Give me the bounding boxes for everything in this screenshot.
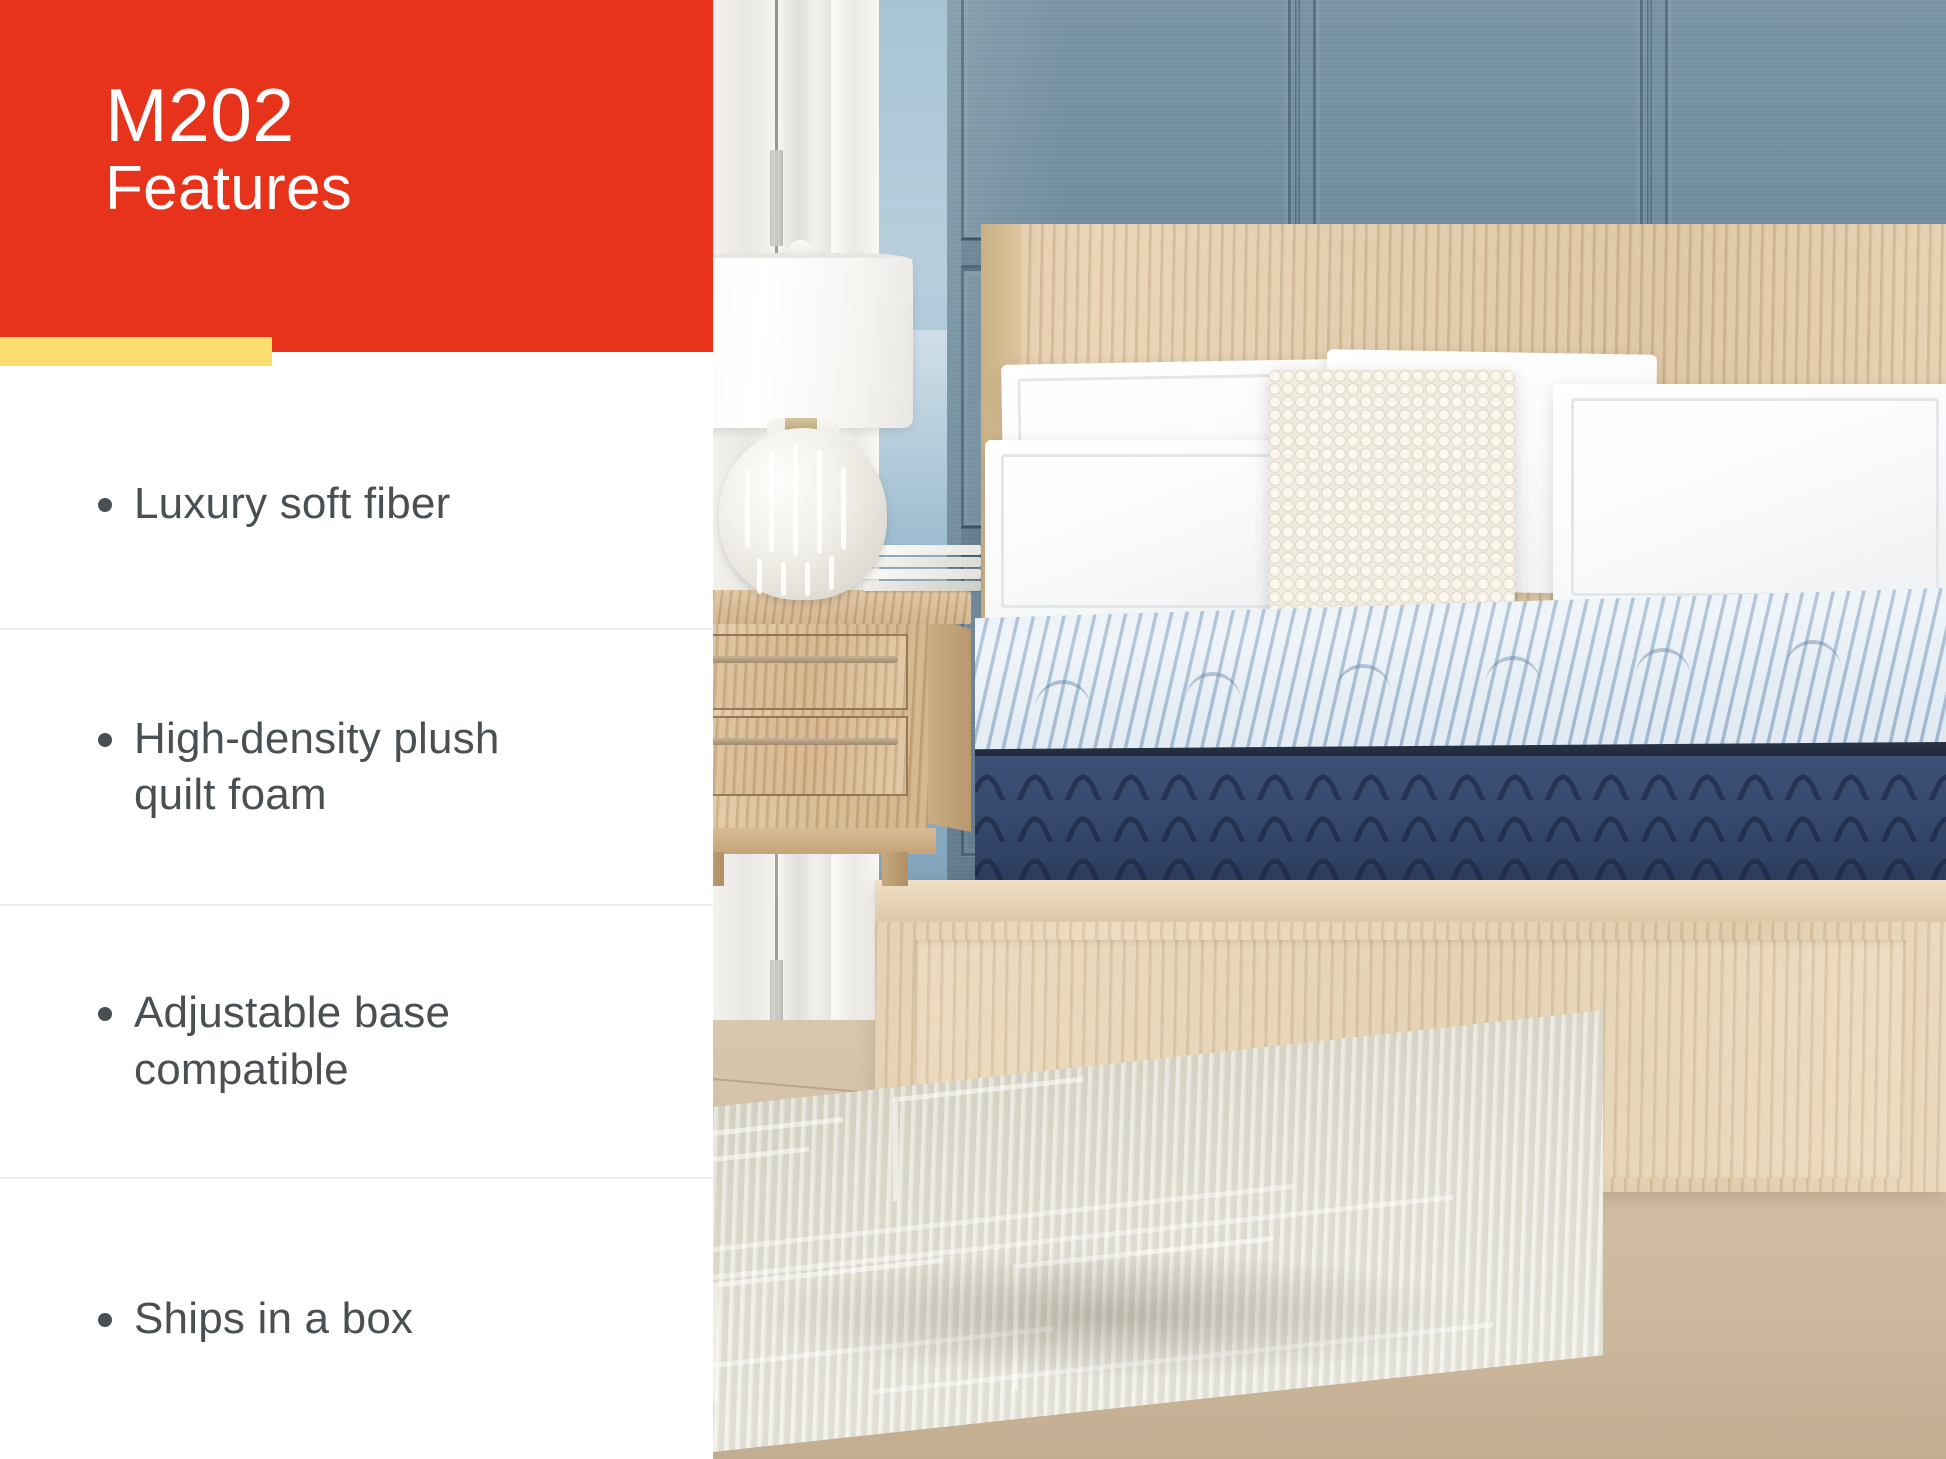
nightstand-side — [928, 616, 971, 832]
lamp-flute-2 — [769, 452, 774, 552]
bullet-dot-icon — [98, 1007, 112, 1021]
drawer-upper-grain — [713, 636, 906, 708]
nightstand-leg-right — [882, 852, 908, 886]
rug-shadow — [753, 1250, 1473, 1380]
footboard-top-rail — [875, 880, 1946, 922]
lamp-flute-4 — [817, 450, 822, 554]
bedroom-photo — [713, 0, 1946, 1459]
list-item-inner: Ships in a box — [0, 1291, 441, 1347]
rug-motif-2 — [713, 1147, 809, 1240]
knit-accent-pillow — [1269, 370, 1515, 618]
book-4 — [863, 581, 981, 591]
feature-text: High-density plush quilt foam — [134, 711, 504, 824]
nightstand-plinth — [713, 828, 936, 854]
list-item: High-density plush quilt foam — [0, 630, 713, 906]
book-3 — [863, 569, 981, 579]
knit-bobble-texture — [1269, 370, 1515, 618]
left-content-panel: M202 Features Luxury soft fiber High-den… — [0, 0, 713, 1459]
feature-text: Adjustable base compatible — [134, 985, 524, 1098]
lamp-flute-8 — [805, 562, 810, 596]
nightstand — [713, 590, 971, 855]
drawer-pull-lower[interactable] — [713, 738, 898, 745]
door-hinge-top — [770, 150, 783, 246]
pillow-far-right-flange — [1571, 398, 1939, 596]
lamp-flute-1 — [745, 470, 750, 548]
lamp-flute-6 — [757, 558, 762, 594]
lamp-flute-9 — [829, 556, 834, 590]
pillow-front-left-flange — [1001, 454, 1299, 608]
lamp-flute-7 — [781, 562, 786, 596]
page-title: M202 — [105, 78, 352, 152]
bullet-dot-icon — [98, 498, 112, 512]
nightstand-drawer-upper[interactable] — [713, 634, 908, 710]
bullet-dot-icon — [98, 733, 112, 747]
feature-text: Ships in a box — [134, 1291, 413, 1347]
list-item-inner: Adjustable base compatible — [0, 985, 552, 1098]
nightstand-top — [713, 590, 971, 624]
nightstand-drawer-lower[interactable] — [713, 716, 908, 796]
list-item: Luxury soft fiber — [0, 380, 713, 630]
wall-panel-7 — [1665, 0, 1946, 240]
rug-motif-3 — [893, 1077, 1083, 1202]
lamp-flute-3 — [793, 444, 798, 556]
yellow-accent-bar — [0, 337, 272, 366]
list-item: Ships in a box — [0, 1179, 713, 1459]
bullet-dot-icon — [98, 1313, 112, 1327]
book-stack — [863, 545, 983, 593]
mattress-wave-row-3 — [975, 844, 1946, 884]
mattress-side-panel — [975, 756, 1946, 890]
feature-list: Luxury soft fiber High-density plush qui… — [0, 380, 713, 1459]
drawer-lower-grain — [713, 718, 906, 794]
list-item-inner: Luxury soft fiber — [0, 476, 478, 532]
wall-panel-1 — [961, 0, 1291, 240]
lamp-base — [719, 428, 887, 600]
nightstand-top-grain — [713, 590, 971, 624]
feature-text: Luxury soft fiber — [134, 476, 450, 532]
title-wrap: M202 Features — [105, 78, 352, 220]
drawer-pull-upper[interactable] — [713, 656, 898, 663]
feature-slide: M202 Features Luxury soft fiber High-den… — [0, 0, 1946, 1459]
list-item: Adjustable base compatible — [0, 906, 713, 1179]
mattress-wave-row-1 — [975, 760, 1946, 800]
title-header-block: M202 Features — [0, 0, 713, 352]
wall-panel-4 — [1313, 0, 1643, 240]
book-2 — [863, 557, 981, 567]
list-item-inner: High-density plush quilt foam — [0, 711, 532, 824]
mattress-wave-row-2 — [975, 802, 1946, 842]
page-subtitle: Features — [105, 158, 352, 220]
lamp-flute-5 — [841, 468, 846, 550]
lamp-shade — [713, 258, 913, 428]
nightstand-leg-left — [713, 852, 724, 886]
